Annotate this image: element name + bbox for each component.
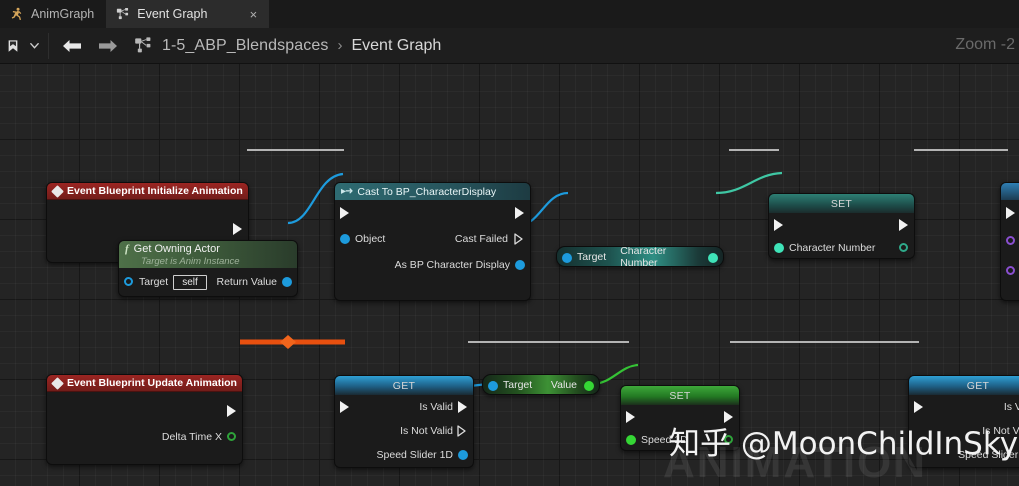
chevron-down-icon — [29, 40, 40, 51]
exec-row — [1001, 200, 1019, 226]
exec-input-pin[interactable] — [625, 411, 637, 423]
breadcrumb-leaf[interactable]: Event Graph — [351, 37, 441, 55]
tab-animgraph-label: AnimGraph — [31, 7, 94, 21]
event-delegate-icon — [248, 187, 249, 196]
breadcrumb: 1-5_ABP_Blendspaces › Event Graph — [134, 36, 441, 55]
value-output-pin[interactable] — [583, 380, 595, 392]
target-input-pin[interactable] — [487, 380, 499, 392]
node-header: SET — [769, 194, 914, 213]
tab-animgraph[interactable]: AnimGraph — [0, 0, 106, 28]
character-number-output-pin[interactable] — [898, 242, 910, 254]
character-number-input-pin[interactable] — [773, 242, 785, 254]
tab-close-icon[interactable]: × — [234, 8, 258, 21]
tab-bar: AnimGraph Event Graph × — [0, 0, 1019, 28]
exec-output-pin[interactable] — [898, 219, 910, 231]
pin-row-2 — [1001, 256, 1019, 286]
exec-input-pin[interactable] — [913, 401, 925, 413]
forward-arrow-icon — [97, 38, 119, 54]
node-title: GET — [393, 380, 416, 392]
target-input-pin[interactable] — [123, 276, 135, 288]
bookmark-icon — [6, 38, 20, 54]
exec-row — [769, 213, 914, 237]
node-get-character-number[interactable]: Target Character Number — [556, 246, 724, 267]
node-title: Get Owning Actor — [134, 243, 220, 255]
node-body: Is Valid Is Not Valid Speed Slider 1D — [335, 395, 473, 467]
as-bp-character-display-label: As BP Character Display — [395, 259, 530, 271]
cast-failed-exec-pin[interactable] — [514, 233, 526, 245]
as-bp-character-display-row: As BP Character Display — [335, 252, 530, 278]
exec-input-pin[interactable] — [339, 401, 351, 413]
is-valid-label: Is Va — [1004, 401, 1019, 413]
is-valid-exec-pin[interactable] — [457, 401, 469, 413]
node-event-blueprint-update-animation[interactable]: Event Blueprint Update Animation Delta T… — [46, 374, 243, 465]
node-header: Event Blueprint Initialize Animation — [47, 183, 248, 200]
node-get-value[interactable]: Target Value — [482, 374, 600, 395]
breadcrumb-root[interactable]: 1-5_ABP_Blendspaces — [162, 37, 328, 55]
object-input-pin[interactable] — [339, 233, 351, 245]
node-get-speed-slider-1d[interactable]: GET Is Valid Is Not Valid — [334, 375, 474, 468]
event-graph-icon — [116, 7, 130, 21]
bookmark-button[interactable] — [0, 31, 26, 61]
exec-output-pin[interactable] — [226, 405, 238, 417]
delta-time-output-pin[interactable] — [226, 431, 238, 443]
node-title: Event Blueprint Initialize Animation — [67, 185, 243, 197]
speed-slider-1d-row: Speed Slider 1D — [335, 443, 473, 467]
node-offscreen-right-top[interactable] — [1000, 182, 1019, 301]
back-arrow-icon — [61, 38, 83, 54]
bookmark-dropdown-button[interactable] — [26, 31, 43, 61]
target-self-input[interactable]: self — [173, 275, 207, 290]
back-button[interactable] — [54, 31, 90, 61]
node-title: SET — [831, 198, 852, 210]
exec-output-pin[interactable] — [232, 223, 244, 235]
character-number-output-pin[interactable] — [707, 252, 719, 264]
exec-row — [335, 200, 530, 226]
exec-output-pin[interactable] — [514, 207, 526, 219]
speed-slider-1d-output-pin[interactable] — [457, 449, 469, 461]
character-number-label: Character Number — [620, 246, 714, 267]
node-header: ▸➜ Cast To BP_CharacterDisplay — [335, 183, 530, 200]
object-row: Object Cast Failed — [335, 226, 530, 252]
anim-graph-icon — [10, 7, 24, 21]
exec-input-pin[interactable] — [1005, 207, 1017, 219]
delta-time-row: Delta Time X — [47, 424, 242, 450]
node-title: GET — [967, 380, 990, 392]
target-row: Target self Return Value — [119, 268, 297, 296]
exec-input-pin[interactable] — [339, 207, 351, 219]
node-header: GET — [335, 376, 473, 395]
node-body: Delta Time X — [47, 398, 242, 464]
is-valid-row: Is Va — [909, 395, 1019, 419]
graph-toolbar: 1-5_ABP_Blendspaces › Event Graph Zoom -… — [0, 28, 1019, 64]
zoom-level-label: Zoom -2 — [955, 36, 1015, 54]
cast-arrow-icon: ▸➜ — [341, 186, 352, 197]
node-subtitle: Target is Anim Instance — [125, 256, 240, 267]
event-delegate-icon — [242, 379, 243, 388]
toolbar-separator — [48, 33, 49, 59]
hollow-exec-icon — [457, 425, 466, 437]
node-title: Cast To BP_CharacterDisplay — [357, 186, 496, 198]
node-header: SET — [621, 386, 739, 405]
struct-input-pin-1[interactable] — [1005, 235, 1017, 247]
is-not-valid-exec-pin[interactable] — [457, 425, 469, 437]
node-body: Target self Return Value — [119, 268, 297, 296]
node-cast-to-bp-character-display[interactable]: ▸➜ Cast To BP_CharacterDisplay Object Ca… — [334, 182, 531, 301]
watermark-overlay-text: 知乎 @MoonChildInSky — [669, 418, 1018, 463]
node-body: Character Number — [769, 213, 914, 258]
struct-input-pin-2[interactable] — [1005, 265, 1017, 277]
node-get-owning-actor[interactable]: f Get Owning Actor Target is Anim Instan… — [118, 240, 298, 297]
as-bp-character-display-pin[interactable] — [514, 259, 526, 271]
node-header: f Get Owning Actor Target is Anim Instan… — [119, 241, 297, 268]
node-header — [1001, 183, 1019, 200]
speed-1d-input-pin[interactable] — [625, 434, 637, 446]
is-valid-row: Is Valid — [335, 395, 473, 419]
node-header: GET — [909, 376, 1019, 395]
is-not-valid-row: Is Not Valid — [335, 419, 473, 443]
nav-group — [54, 28, 126, 64]
tab-event-graph[interactable]: Event Graph × — [106, 0, 269, 28]
node-set-character-number[interactable]: SET Character Number — [768, 193, 915, 259]
event-diamond-icon — [51, 377, 64, 390]
character-number-row: Character Number — [769, 237, 914, 258]
return-value-output-pin[interactable] — [281, 276, 293, 288]
hollow-exec-icon — [514, 233, 523, 245]
exec-out-row — [47, 398, 242, 424]
breadcrumb-graph-icon — [134, 36, 153, 55]
bookmark-group — [0, 28, 43, 64]
event-diamond-icon — [51, 185, 64, 198]
breadcrumb-separator: › — [337, 37, 342, 54]
node-title: Event Blueprint Update Animation — [67, 377, 237, 389]
exec-input-pin[interactable] — [773, 219, 785, 231]
forward-button[interactable] — [90, 31, 126, 61]
node-body: Object Cast Failed As BP Character Displ… — [335, 200, 530, 300]
function-icon: f — [125, 243, 129, 255]
node-body — [1001, 200, 1019, 300]
blueprint-editor-window: AnimGraph Event Graph × — [0, 0, 1019, 486]
exec-out-row — [47, 218, 248, 240]
node-title: SET — [669, 390, 690, 402]
pin-row-1 — [1001, 226, 1019, 256]
target-input-pin[interactable] — [561, 252, 573, 264]
tab-event-graph-label: Event Graph — [137, 7, 207, 21]
node-header: Event Blueprint Update Animation — [47, 375, 242, 392]
